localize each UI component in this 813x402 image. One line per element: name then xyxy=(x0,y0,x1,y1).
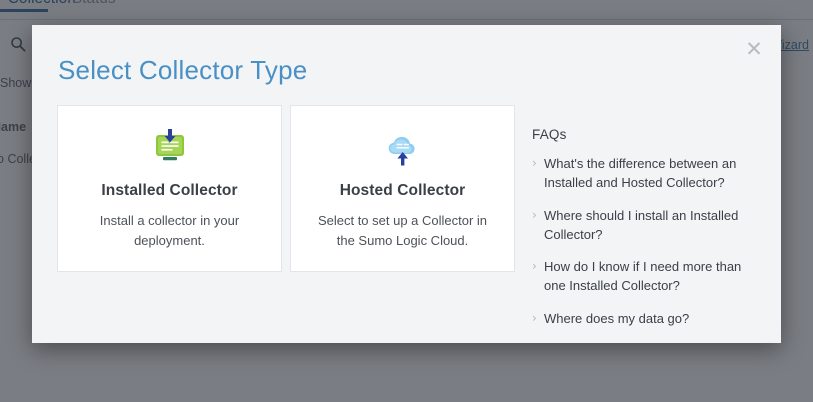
faq-section: FAQs › What's the difference between an … xyxy=(532,127,757,343)
card-hosted-collector[interactable]: Hosted Collector Select to set up a Coll… xyxy=(290,105,515,272)
faq-item[interactable]: › What's the difference between an Insta… xyxy=(532,155,757,193)
faq-heading: FAQs xyxy=(532,127,757,142)
card-installed-collector-title: Installed Collector xyxy=(101,182,237,200)
faq-item[interactable]: › Where should I install an Installed Co… xyxy=(532,207,757,245)
faq-item[interactable]: › How do I know if I need more than one … xyxy=(532,258,757,296)
card-installed-collector[interactable]: Installed Collector Install a collector … xyxy=(57,105,282,272)
hosted-collector-cloud-icon xyxy=(381,128,425,170)
card-hosted-collector-title: Hosted Collector xyxy=(340,182,466,200)
select-collector-type-dialog: ✕ Select Collector Type xyxy=(32,25,781,343)
chevron-right-icon: › xyxy=(532,207,544,224)
faq-item-label: How do I know if I need more than one In… xyxy=(544,258,757,296)
collector-type-card-list: Installed Collector Install a collector … xyxy=(57,105,515,272)
installed-collector-monitor-icon xyxy=(148,128,192,170)
faq-item-label: What's the difference between an Install… xyxy=(544,155,757,193)
close-icon[interactable]: ✕ xyxy=(742,37,766,61)
chevron-right-icon: › xyxy=(532,258,544,275)
faq-item-label: Where does my data go? xyxy=(544,310,757,329)
dialog-title: Select Collector Type xyxy=(58,55,307,86)
card-installed-collector-description: Install a collector in your deployment. xyxy=(81,211,259,251)
card-hosted-collector-description: Select to set up a Collector in the Sumo… xyxy=(314,211,492,251)
faq-item[interactable]: › Where does my data go? xyxy=(532,310,757,329)
faq-item-label: Where should I install an Installed Coll… xyxy=(544,207,757,245)
chevron-right-icon: › xyxy=(532,310,544,327)
chevron-right-icon: › xyxy=(532,155,544,172)
